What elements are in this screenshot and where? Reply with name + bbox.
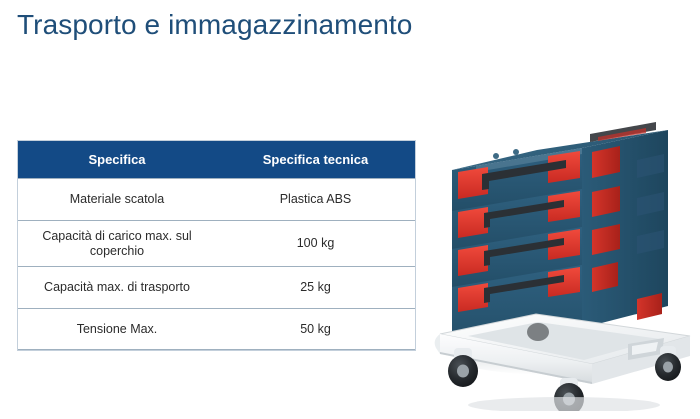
column-header-specifica: Specifica: [18, 141, 216, 179]
caster-wheel-rear-left: [527, 323, 549, 341]
table-row: Tensione Max. 50 kg: [18, 309, 415, 350]
table-row: Capacità max. di trasporto 25 kg: [18, 267, 415, 309]
cell-spec-value: Plastica ABS: [216, 179, 415, 221]
table-row: Materiale scatola Plastica ABS: [18, 179, 415, 221]
table-header-row: Specifica Specifica tecnica: [18, 141, 415, 179]
cell-spec-name: Capacità di carico max. sul coperchio: [18, 221, 216, 267]
page-title: Trasporto e immagazzinamento: [17, 8, 412, 42]
cell-spec-name: Capacità max. di trasporto: [18, 267, 216, 309]
product-image-toolcase-stack-on-dolly: [432, 96, 700, 411]
cell-spec-value: 100 kg: [216, 221, 415, 267]
column-header-specifica-tecnica: Specifica tecnica: [216, 141, 415, 179]
specifications-table: Specifica Specifica tecnica Materiale sc…: [18, 141, 415, 350]
cell-spec-name: Tensione Max.: [18, 309, 216, 350]
cell-spec-value: 50 kg: [216, 309, 415, 350]
cell-spec-name: Materiale scatola: [18, 179, 216, 221]
table-row: Capacità di carico max. sul coperchio 10…: [18, 221, 415, 267]
cell-spec-value: 25 kg: [216, 267, 415, 309]
